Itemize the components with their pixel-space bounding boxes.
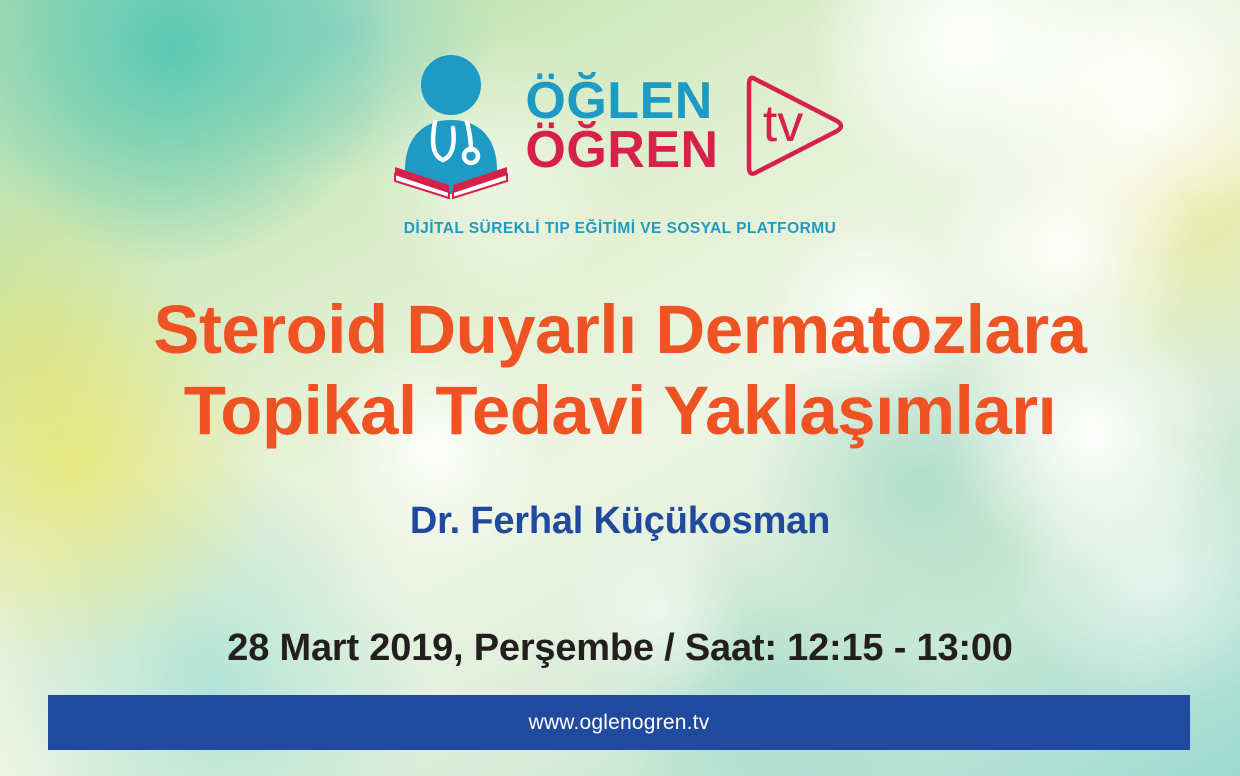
website-url[interactable]: www.oglenogren.tv bbox=[529, 711, 710, 735]
event-datetime: 28 Mart 2019, Perşembe / Saat: 12:15 - 1… bbox=[0, 627, 1240, 670]
doctor-with-stethoscope-and-open-book-icon bbox=[391, 52, 511, 200]
tv-badge-label: tv bbox=[762, 95, 802, 153]
brand-logo-block: ÖĞLEN ÖĞREN tv DİJİTAL SÜREKLİ TIP EĞİTİ… bbox=[0, 52, 1240, 238]
wordmark-line-ogren: ÖĞREN bbox=[525, 126, 718, 175]
footer-bar: www.oglenogren.tv bbox=[48, 695, 1190, 750]
event-title-line-2: Topikal Tedavi Yaklaşımları bbox=[0, 371, 1240, 452]
event-title-line-1: Steroid Duyarlı Dermatozlara bbox=[0, 290, 1240, 371]
play-triangle-icon: tv bbox=[737, 65, 849, 187]
event-announcement-poster: ÖĞLEN ÖĞREN tv DİJİTAL SÜREKLİ TIP EĞİTİ… bbox=[0, 0, 1240, 776]
event-title: Steroid Duyarlı Dermatozlara Topikal Ted… bbox=[0, 290, 1240, 451]
logo-row: ÖĞLEN ÖĞREN tv bbox=[391, 52, 848, 200]
wordmark: ÖĞLEN ÖĞREN bbox=[525, 77, 718, 176]
speaker-name: Dr. Ferhal Küçükosman bbox=[0, 500, 1240, 543]
wordmark-line-oglen: ÖĞLEN bbox=[525, 77, 718, 126]
brand-tagline: DİJİTAL SÜREKLİ TIP EĞİTİMİ VE SOSYAL PL… bbox=[404, 220, 837, 238]
